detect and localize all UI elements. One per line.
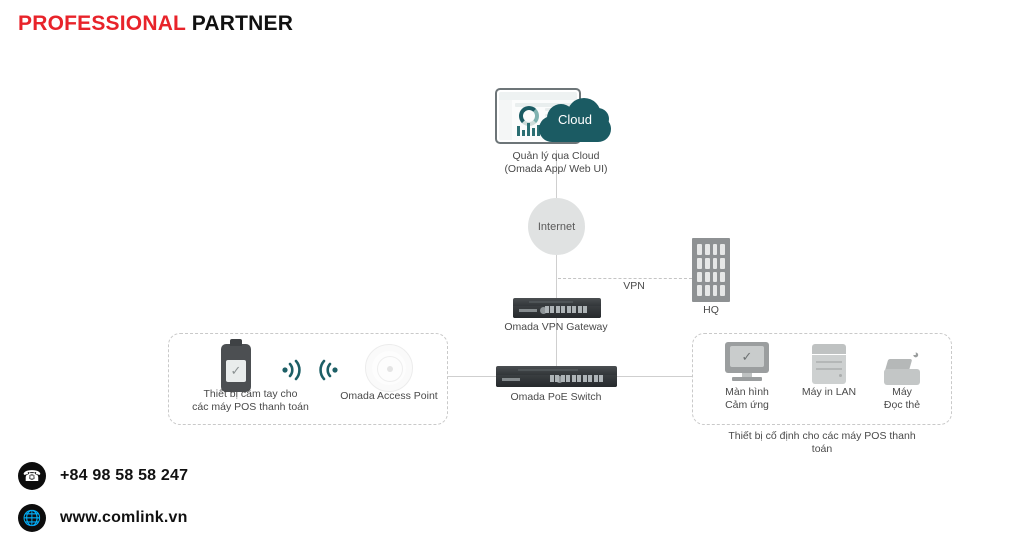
line-vpn-tunnel — [558, 278, 692, 279]
wifi-signal-left-icon — [281, 358, 307, 387]
brand-secondary: PARTNER — [192, 12, 293, 35]
website-url: www.comlink.vn — [60, 509, 188, 527]
globe-icon: 🌐 — [18, 504, 46, 532]
internet-node: Internet — [528, 198, 585, 255]
card-reader-icon: ◕ — [884, 349, 920, 385]
omada-vpn-gateway-label: Omada VPN Gateway — [476, 321, 636, 334]
hq-building-icon — [692, 238, 730, 302]
touchscreen-monitor-icon: ✓ — [725, 342, 769, 382]
omada-poe-switch-label: Omada PoE Switch — [476, 391, 636, 404]
diagram-canvas: PROFESSIONAL PARTNER — [0, 0, 1024, 538]
right-group-caption: Thiết bị cố định cho các máy POS thanh t… — [712, 430, 932, 456]
internet-label: Internet — [538, 221, 575, 233]
card-reader-label: Máy Đọc thẻ — [866, 386, 938, 412]
omada-access-point-icon — [365, 344, 413, 392]
omada-access-point-label: Omada Access Point — [326, 390, 452, 403]
cloud-management-label: Quản lý qua Cloud (Omada App/ Web UI) — [466, 150, 646, 176]
contact-phone-row[interactable]: ☎ +84 98 58 58 247 — [18, 462, 188, 490]
omada-vpn-gateway-icon — [513, 298, 601, 318]
lan-printer-icon — [812, 344, 846, 384]
line-switch-to-left-group — [448, 376, 496, 377]
touchscreen-monitor-label: Màn hình Cảm ứng — [702, 386, 792, 412]
contact-website-row[interactable]: 🌐 www.comlink.vn — [18, 504, 188, 532]
hq-label: HQ — [681, 304, 741, 317]
cloud-management-group: Cloud — [487, 84, 627, 154]
line-internet-to-gateway — [556, 255, 557, 300]
cloud-badge-label: Cloud — [539, 112, 611, 127]
handheld-check-icon: ✓ — [226, 360, 246, 382]
brand-header: PROFESSIONAL PARTNER — [18, 12, 293, 36]
cloud-icon: Cloud — [539, 98, 611, 142]
brand-primary: PROFESSIONAL — [18, 12, 186, 35]
lan-printer-label: Máy in LAN — [788, 386, 870, 399]
pos-handheld-label: Thiết bị cầm tay cho các máy POS thanh t… — [183, 388, 318, 414]
wifi-signal-right-icon — [313, 358, 339, 387]
phone-icon: ☎ — [18, 462, 46, 490]
vpn-link-label: VPN — [601, 280, 667, 293]
phone-number: +84 98 58 58 247 — [60, 467, 188, 485]
pos-handheld-icon: ✓ — [221, 344, 251, 392]
line-switch-to-right-group — [617, 376, 692, 377]
omada-poe-switch-icon — [496, 366, 617, 387]
